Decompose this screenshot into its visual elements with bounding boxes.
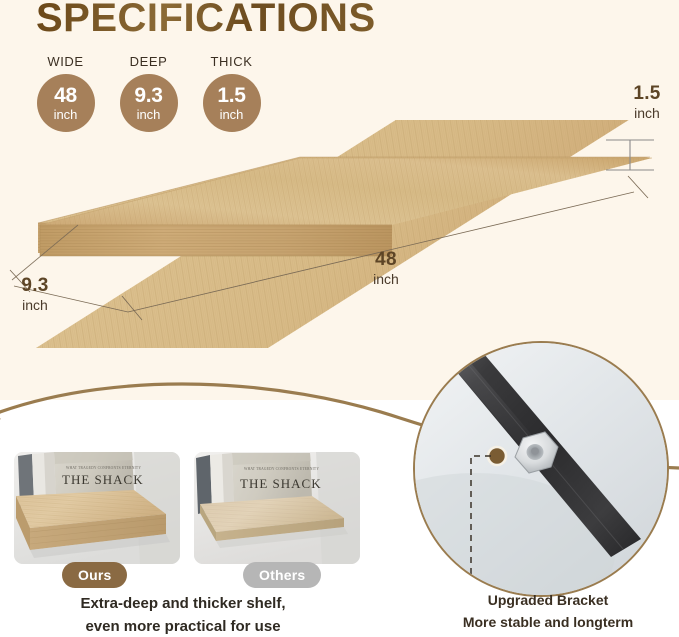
comparison-panel-group: WHAT TRAGEDY CONFRONTS ETERNITY THE SHAC… — [14, 452, 360, 564]
dimension-label-depth: 9.3 inch — [4, 276, 66, 313]
dimension-label-length: 48 inch — [352, 250, 420, 287]
bracket-detail-circle — [413, 341, 669, 597]
specification-infographic: SPECIFICATIONS WIDE 48 inch DEEP 9.3 inc… — [0, 0, 679, 637]
others-photo: WHAT TRAGEDY CONFRONTS ETERNITY THE SHAC… — [194, 452, 360, 564]
bracket-caption-line2: More stable and longterm — [432, 612, 664, 634]
bracket-caption: Upgraded Bracket More stable and longter… — [432, 590, 664, 633]
comparison-panel-others[interactable]: WHAT TRAGEDY CONFRONTS ETERNITY THE SHAC… — [194, 452, 360, 564]
comparison-caption-line1: Extra-deep and thicker shelf, — [8, 592, 358, 615]
badge-others: Others — [243, 562, 321, 588]
dimension-unit: inch — [620, 106, 674, 121]
svg-text:WHAT TRAGEDY CONFRONTS ETERNIT: WHAT TRAGEDY CONFRONTS ETERNITY — [244, 467, 319, 471]
badge-ours: Ours — [62, 562, 127, 588]
dimension-value: 1.5 — [620, 84, 674, 104]
dimension-unit: inch — [352, 272, 420, 287]
bracket-caption-line1: Upgraded Bracket — [432, 590, 664, 612]
comparison-panel-ours[interactable]: WHAT TRAGEDY CONFRONTS ETERNITY THE SHAC… — [14, 452, 180, 564]
svg-text:WHAT TRAGEDY CONFRONTS ETERNIT: WHAT TRAGEDY CONFRONTS ETERNITY — [66, 466, 141, 470]
dimension-value: 9.3 — [4, 276, 66, 296]
dimension-unit: inch — [4, 298, 66, 313]
svg-text:THE SHACK: THE SHACK — [62, 472, 144, 487]
dimension-label-thickness: 1.5 inch — [620, 84, 674, 121]
comparison-caption: Extra-deep and thicker shelf, even more … — [8, 592, 358, 637]
dimension-value: 48 — [352, 250, 420, 270]
ours-photo: WHAT TRAGEDY CONFRONTS ETERNITY THE SHAC… — [14, 452, 180, 564]
svg-text:THE SHACK: THE SHACK — [240, 476, 322, 491]
bracket-photo — [415, 343, 667, 595]
comparison-caption-line2: even more practical for use — [8, 615, 358, 637]
dimension-lines — [0, 0, 679, 400]
